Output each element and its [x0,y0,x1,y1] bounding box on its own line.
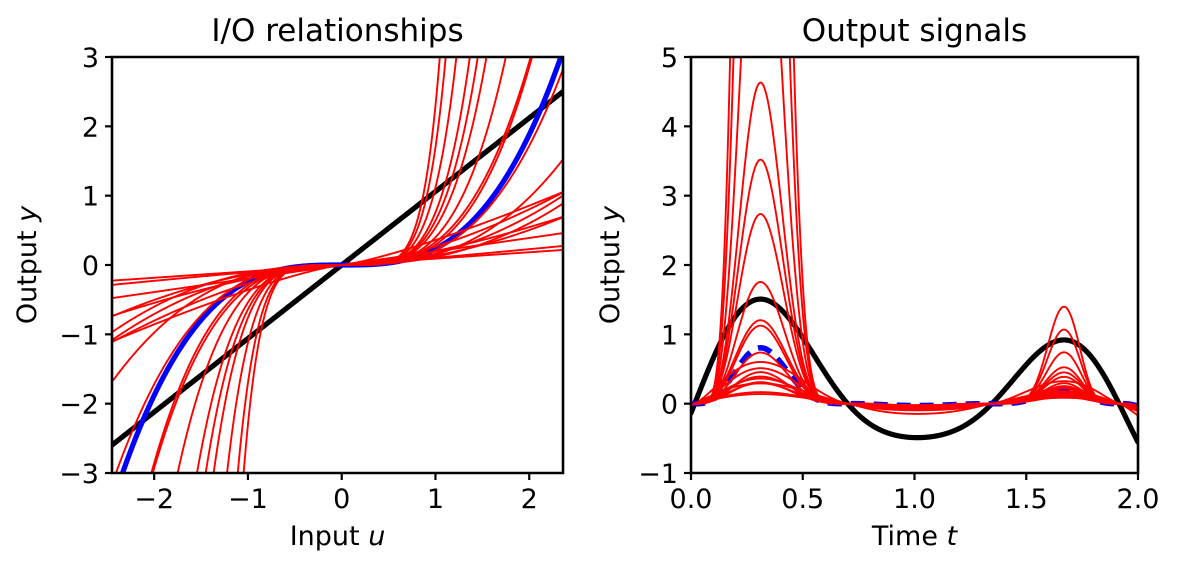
xtick-label: 1.0 [893,484,936,515]
ytick-label: 2 [661,251,678,282]
ytick-label: −1 [59,320,99,351]
ytick-label: −2 [59,390,99,421]
ytick-label: 1 [661,320,678,351]
xtick-label: 1 [427,484,444,515]
xtick-label: −2 [134,484,174,515]
ytick-label: 4 [661,112,678,143]
ytick-label: 0 [661,390,678,421]
y-axis-label: Output y [12,205,43,324]
xtick-label: 0 [333,484,350,515]
ticks-group: 0.00.51.01.52.0−1012345 [638,43,1159,515]
series-sample-12 [691,83,1138,408]
output-signals-plot: 0.00.51.01.52.0−1012345Output signalsTim… [589,0,1179,580]
x-axis-label: Input u [290,521,386,552]
ytick-label: 0 [82,251,99,282]
chart-title: I/O relationships [211,13,463,49]
panel-output-signals: 0.00.51.01.52.0−1012345Output signalsTim… [589,0,1179,580]
chart-title: Output signals [802,13,1027,49]
ytick-label: −1 [638,459,678,490]
ytick-label: 3 [82,43,99,74]
x-axis-label: Time t [871,521,959,552]
ytick-label: −3 [59,459,99,490]
xtick-label: 2 [521,484,538,515]
io-relationships-plot: −2−1012−3−2−10123I/O relationshipsInput … [0,0,590,580]
ytick-label: 5 [661,43,678,74]
xtick-label: 0.5 [781,484,824,515]
ytick-label: 1 [82,182,99,213]
xtick-label: −1 [228,484,268,515]
panel-io-relationships: −2−1012−3−2−10123I/O relationshipsInput … [0,0,590,580]
y-axis-label: Output y [595,205,626,324]
curves-group [691,0,1138,442]
figure-canvas: −2−1012−3−2−10123I/O relationshipsInput … [0,0,1179,580]
ytick-label: 2 [82,112,99,143]
xtick-label: 1.5 [1005,484,1048,515]
ytick-label: 3 [661,182,678,213]
xtick-label: 2.0 [1117,484,1160,515]
